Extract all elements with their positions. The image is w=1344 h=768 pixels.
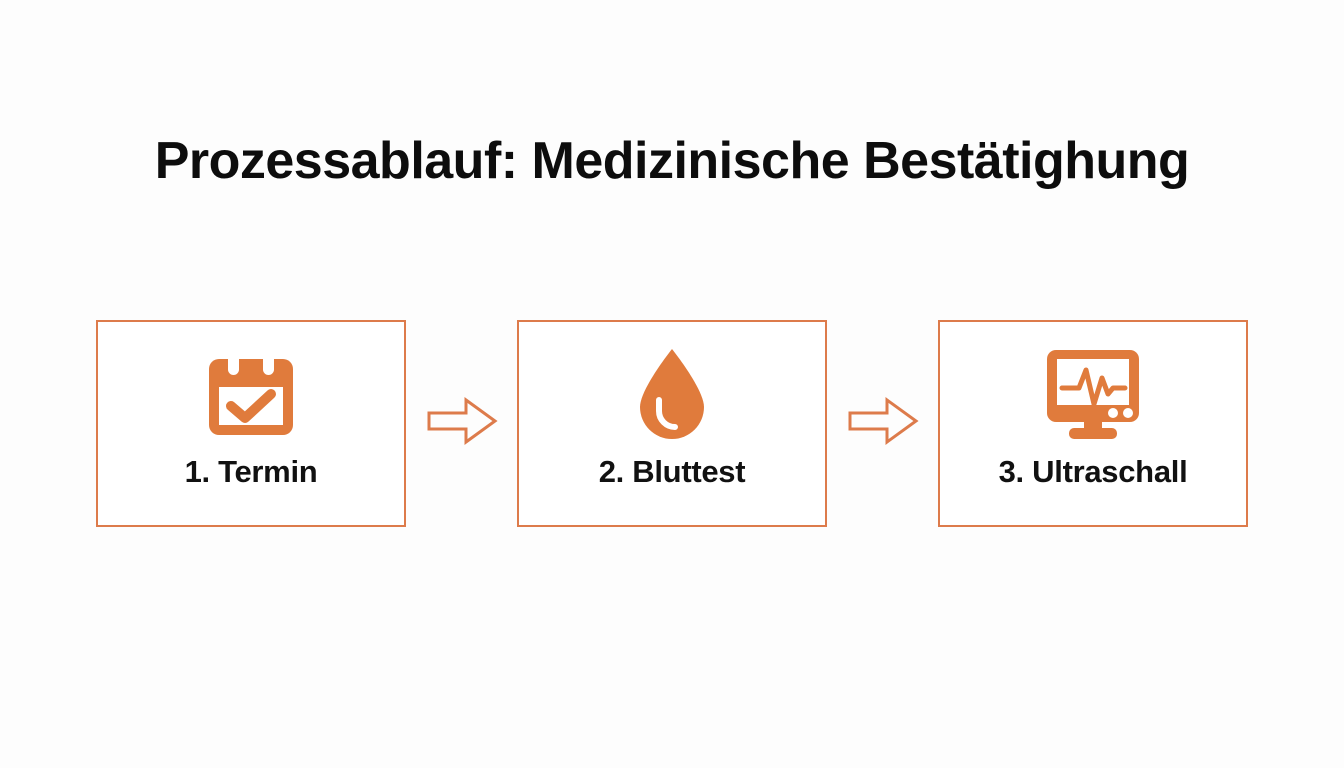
step-box-termin[interactable]: 1. Termin — [96, 320, 406, 527]
step-box-bluttest[interactable]: 2. Bluttest — [517, 320, 827, 527]
blood-drop-icon — [632, 344, 712, 446]
arrow-right-icon — [847, 395, 919, 452]
process-flow: 1. Termin 2. Bluttest — [96, 320, 1248, 527]
arrow-connector-1 — [422, 392, 502, 456]
arrow-connector-2 — [843, 392, 923, 456]
step-box-ultraschall[interactable]: 3. Ultraschall — [938, 320, 1248, 527]
step-label-bluttest: 2. Bluttest — [599, 454, 746, 490]
step-label-ultraschall: 3. Ultraschall — [999, 454, 1188, 490]
step-label-termin: 1. Termin — [185, 454, 318, 490]
arrow-right-icon — [426, 395, 498, 452]
calendar-check-icon — [201, 344, 301, 446]
monitor-ecg-icon — [1041, 344, 1145, 446]
page-title: Prozessablauf: Medizinische Bestätighung — [0, 131, 1344, 191]
